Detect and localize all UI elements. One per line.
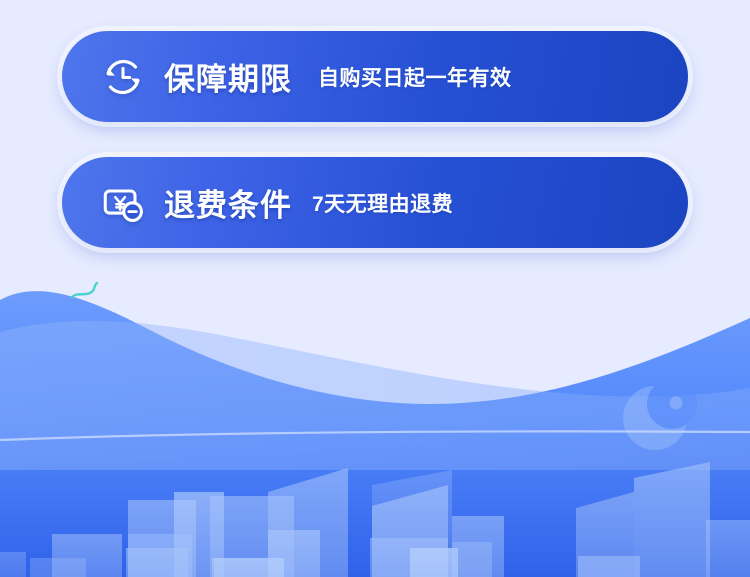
wave-front xyxy=(0,321,750,470)
building xyxy=(210,496,294,577)
building xyxy=(576,492,634,577)
building xyxy=(52,534,122,577)
building xyxy=(30,558,86,577)
info-card-warranty-period[interactable]: 保障期限 自购买日起一年有效 xyxy=(62,31,688,122)
building xyxy=(410,548,458,577)
building xyxy=(372,478,450,577)
building xyxy=(373,476,452,577)
building xyxy=(212,558,284,577)
squiggle-decoration xyxy=(72,283,97,297)
wave-back xyxy=(0,291,750,577)
refund-card-icon xyxy=(100,180,146,226)
building xyxy=(578,556,640,577)
building xyxy=(706,520,750,577)
building xyxy=(452,516,504,577)
info-card-refund-conditions[interactable]: 退费条件 7天无理由退费 xyxy=(62,157,688,248)
building xyxy=(214,558,284,577)
building xyxy=(174,492,224,577)
building xyxy=(372,470,452,577)
building xyxy=(126,548,188,577)
horizon-line xyxy=(0,431,750,440)
building xyxy=(410,548,458,577)
building xyxy=(452,542,492,577)
building xyxy=(372,485,448,577)
info-card-subtitle: 自购买日起一年有效 xyxy=(318,62,512,92)
building xyxy=(128,500,196,577)
clock-refresh-icon xyxy=(100,54,146,100)
skyline-silhouettes xyxy=(0,462,750,577)
info-card-subtitle: 7天无理由退费 xyxy=(312,188,453,218)
skyline-foreground-blocks xyxy=(30,534,640,577)
building xyxy=(268,530,320,577)
building xyxy=(370,538,448,577)
building xyxy=(0,552,26,577)
building xyxy=(268,468,348,577)
moon-logo-mark xyxy=(623,379,697,450)
info-card-title: 退费条件 xyxy=(164,180,292,225)
promo-banner: 保障期限 自购买日起一年有效 退费条件 7天无理由退费 xyxy=(0,0,750,577)
building xyxy=(372,538,450,577)
building xyxy=(128,534,192,577)
building xyxy=(634,462,710,577)
info-card-title: 保障期限 xyxy=(164,54,292,99)
